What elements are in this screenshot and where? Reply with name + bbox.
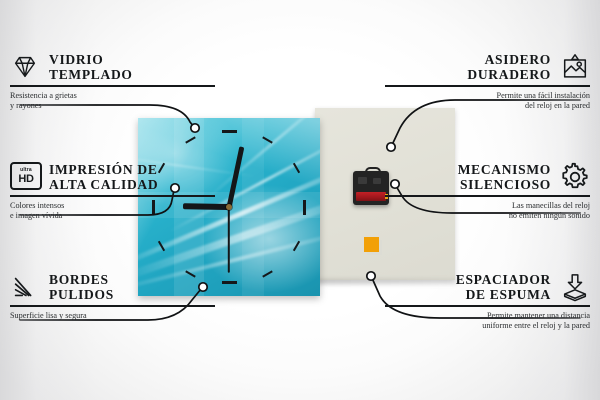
feature-title-line2: DURADERO	[467, 67, 551, 82]
feature-desc-line2: y rayones	[10, 101, 215, 112]
feature-desc-line2: e imagen vívida	[10, 211, 215, 222]
feature-title-line1: MECANISMO	[458, 162, 551, 177]
feature-desc-line2: uniforme entre el reloj y la pared	[385, 321, 590, 332]
feature-desc-line2: del reloj en la pared	[385, 101, 590, 112]
polished-edges-icon	[10, 272, 40, 302]
divider	[10, 195, 215, 197]
infographic-canvas: VIDRIO TEMPLADO Resistencia a grietas y …	[0, 0, 600, 400]
feature-title-line1: BORDES	[49, 272, 114, 287]
feature-desc-line1: Permite una fácil instalación	[385, 91, 590, 102]
feature-title-line2: SILENCIOSO	[458, 177, 551, 192]
divider	[385, 195, 590, 197]
feature-bordes-pulidos: BORDES PULIDOS Superficie lisa y segura	[10, 272, 215, 321]
feature-title-line2: TEMPLADO	[49, 67, 133, 82]
clock-movement	[353, 167, 389, 205]
clock-tick	[222, 130, 237, 133]
feature-title-line2: PULIDOS	[49, 287, 114, 302]
clock-center-cap	[226, 204, 232, 210]
feature-vidrio-templado: VIDRIO TEMPLADO Resistencia a grietas y …	[10, 52, 215, 112]
ultra-hd-icon: ultra HD	[10, 162, 40, 192]
clock-tick	[222, 281, 237, 284]
movement-knob-right	[373, 178, 381, 184]
clock-tick	[262, 136, 273, 143]
divider	[385, 305, 590, 307]
feature-desc-line1: Las manecillas del reloj	[385, 201, 590, 212]
clock-tick	[303, 200, 306, 215]
feature-mecanismo-silencioso: MECANISMO SILENCIOSO Las manecillas del …	[385, 162, 590, 222]
feature-title-line1: VIDRIO	[49, 52, 133, 67]
feature-desc-line2: no emiten ningún sonido	[385, 211, 590, 222]
feature-asidero-duradero: ASIDERO DURADERO Permite una fácil insta…	[385, 52, 590, 112]
feature-title-line1: ASIDERO	[467, 52, 551, 67]
divider	[385, 85, 590, 87]
foam-spacer-pad	[364, 237, 379, 252]
ultra-hd-large-text: HD	[18, 174, 33, 185]
ultra-hd-small-text: ultra	[20, 168, 32, 173]
feature-title-line1: IMPRESIÓN DE	[49, 162, 158, 177]
feature-title-line2: DE ESPUMA	[456, 287, 551, 302]
feature-desc-line1: Permite mantener una distancia	[385, 311, 590, 322]
foam-spacer-icon	[560, 272, 590, 302]
feature-desc-line1: Colores intensos	[10, 201, 215, 212]
picture-hanger-icon	[560, 52, 590, 82]
clock-tick	[292, 163, 299, 174]
feature-impresion-alta-calidad: ultra HD IMPRESIÓN DE ALTA CALIDAD Color…	[10, 162, 215, 222]
feature-title-line2: ALTA CALIDAD	[49, 177, 158, 192]
divider	[10, 305, 215, 307]
diamond-icon	[10, 52, 40, 82]
movement-knob-left	[358, 177, 367, 184]
clock-tick	[262, 270, 273, 277]
clock-second-hand	[228, 207, 230, 273]
feature-desc-line1: Resistencia a grietas	[10, 91, 215, 102]
movement-battery	[356, 192, 386, 201]
feature-espaciador-de-espuma: ESPACIADOR DE ESPUMA Permite mantener un…	[385, 272, 590, 332]
feature-desc-line1: Superficie lisa y segura	[10, 311, 215, 322]
gear-icon	[560, 162, 590, 192]
feature-title-line1: ESPACIADOR	[456, 272, 551, 287]
divider	[10, 85, 215, 87]
